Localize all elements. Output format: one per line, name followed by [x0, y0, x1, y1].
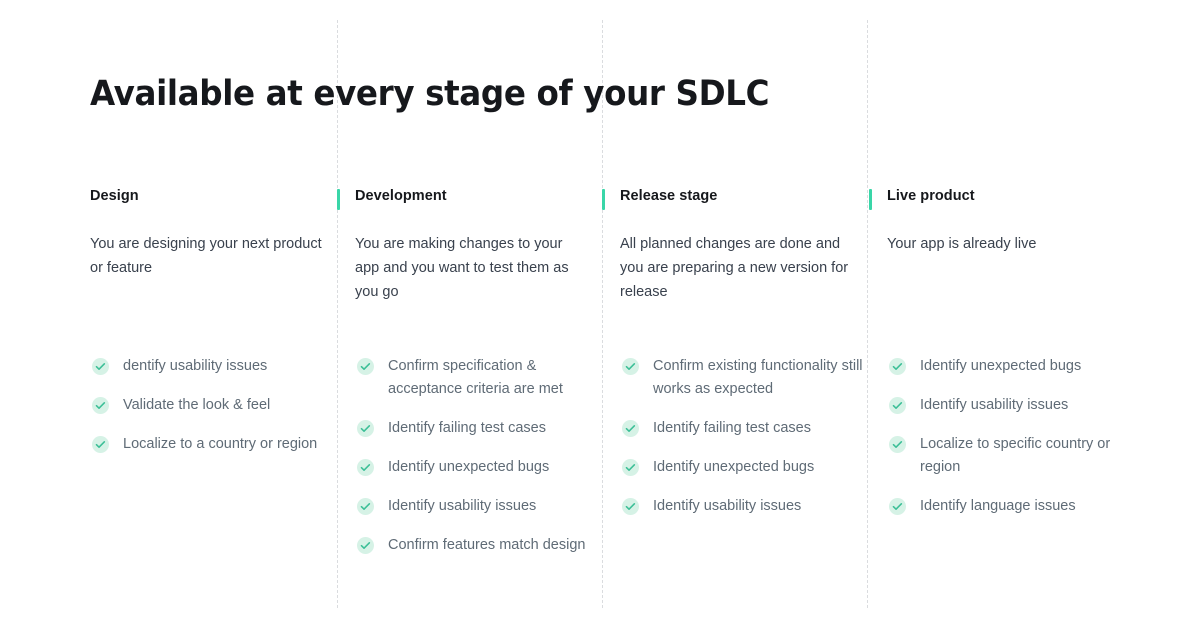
page-title: Available at every stage of your SDLC: [90, 70, 769, 118]
check-circle-icon: [357, 358, 374, 375]
column-accent-bar: [869, 189, 872, 210]
check-circle-icon: [92, 436, 109, 453]
check-circle-icon: [357, 459, 374, 476]
stage-column-development: Development You are making changes to yo…: [355, 186, 600, 304]
check-circle-icon: [889, 436, 906, 453]
list-item: Identify failing test cases: [620, 417, 865, 440]
list-item-label: Identify usability issues: [653, 498, 801, 514]
stage-column-live-product: Live product Your app is already live Id…: [887, 186, 1132, 256]
stage-column-design: Design You are designing your next produ…: [90, 186, 335, 280]
list-item: Identify language issues: [887, 495, 1132, 518]
check-circle-icon: [622, 459, 639, 476]
column-accent-bar: [337, 189, 340, 210]
list-item-label: Confirm specification & acceptance crite…: [388, 358, 563, 397]
list-item-label: Identify unexpected bugs: [653, 459, 814, 475]
list-item: Confirm specification & acceptance crite…: [355, 355, 600, 401]
list-item: Identify unexpected bugs: [620, 456, 865, 479]
list-item: dentify usability issues: [90, 355, 335, 378]
check-circle-icon: [92, 397, 109, 414]
check-circle-icon: [357, 537, 374, 554]
list-item: Identify failing test cases: [355, 417, 600, 440]
list-item-label: Localize to specific country or region: [920, 436, 1110, 475]
check-circle-icon: [622, 420, 639, 437]
column-checklist: Identify unexpected bugs Identify usabil…: [887, 355, 1132, 518]
check-circle-icon: [92, 358, 109, 375]
list-item-label: Validate the look & feel: [123, 397, 270, 413]
list-item-label: Identify unexpected bugs: [388, 459, 549, 475]
column-accent-bar: [602, 189, 605, 210]
list-item-label: Identify usability issues: [388, 498, 536, 514]
column-heading: Design: [90, 186, 335, 206]
stage-board: Available at every stage of your SDLC De…: [0, 0, 1200, 630]
stage-column-release-stage: Release stage All planned changes are do…: [620, 186, 865, 304]
list-item: Confirm existing functionality still wor…: [620, 355, 865, 401]
list-item: Identify usability issues: [620, 495, 865, 518]
column-checklist: Confirm existing functionality still wor…: [620, 355, 865, 518]
list-item: Localize to a country or region: [90, 433, 335, 456]
check-circle-icon: [622, 498, 639, 515]
list-item-label: Identify failing test cases: [653, 420, 811, 436]
list-item-label: Identify unexpected bugs: [920, 358, 1081, 374]
column-heading: Release stage: [620, 186, 865, 206]
list-item: Identify unexpected bugs: [355, 456, 600, 479]
list-item-label: Identify language issues: [920, 498, 1076, 514]
list-item-label: Confirm features match design: [388, 537, 585, 553]
check-circle-icon: [889, 397, 906, 414]
check-circle-icon: [622, 358, 639, 375]
list-item: Identify usability issues: [887, 394, 1132, 417]
list-item: Identify usability issues: [355, 495, 600, 518]
column-checklist: Confirm specification & acceptance crite…: [355, 355, 600, 557]
column-heading: Live product: [887, 186, 1132, 206]
list-item-label: Identify usability issues: [920, 397, 1068, 413]
column-heading: Development: [355, 186, 600, 206]
list-item-label: Localize to a country or region: [123, 436, 317, 452]
column-divider-3: [867, 20, 868, 608]
list-item-label: Confirm existing functionality still wor…: [653, 358, 863, 397]
column-description: Your app is already live: [887, 206, 1119, 256]
list-item: Confirm features match design: [355, 534, 600, 557]
check-circle-icon: [889, 358, 906, 375]
list-item: Identify unexpected bugs: [887, 355, 1132, 378]
column-description: You are designing your next product or f…: [90, 206, 322, 280]
check-circle-icon: [889, 498, 906, 515]
list-item-label: dentify usability issues: [123, 358, 267, 374]
list-item: Validate the look & feel: [90, 394, 335, 417]
column-checklist: dentify usability issues Validate the lo…: [90, 355, 335, 456]
list-item: Localize to specific country or region: [887, 433, 1132, 479]
column-description: All planned changes are done and you are…: [620, 206, 852, 304]
column-description: You are making changes to your app and y…: [355, 206, 587, 304]
check-circle-icon: [357, 498, 374, 515]
list-item-label: Identify failing test cases: [388, 420, 546, 436]
check-circle-icon: [357, 420, 374, 437]
